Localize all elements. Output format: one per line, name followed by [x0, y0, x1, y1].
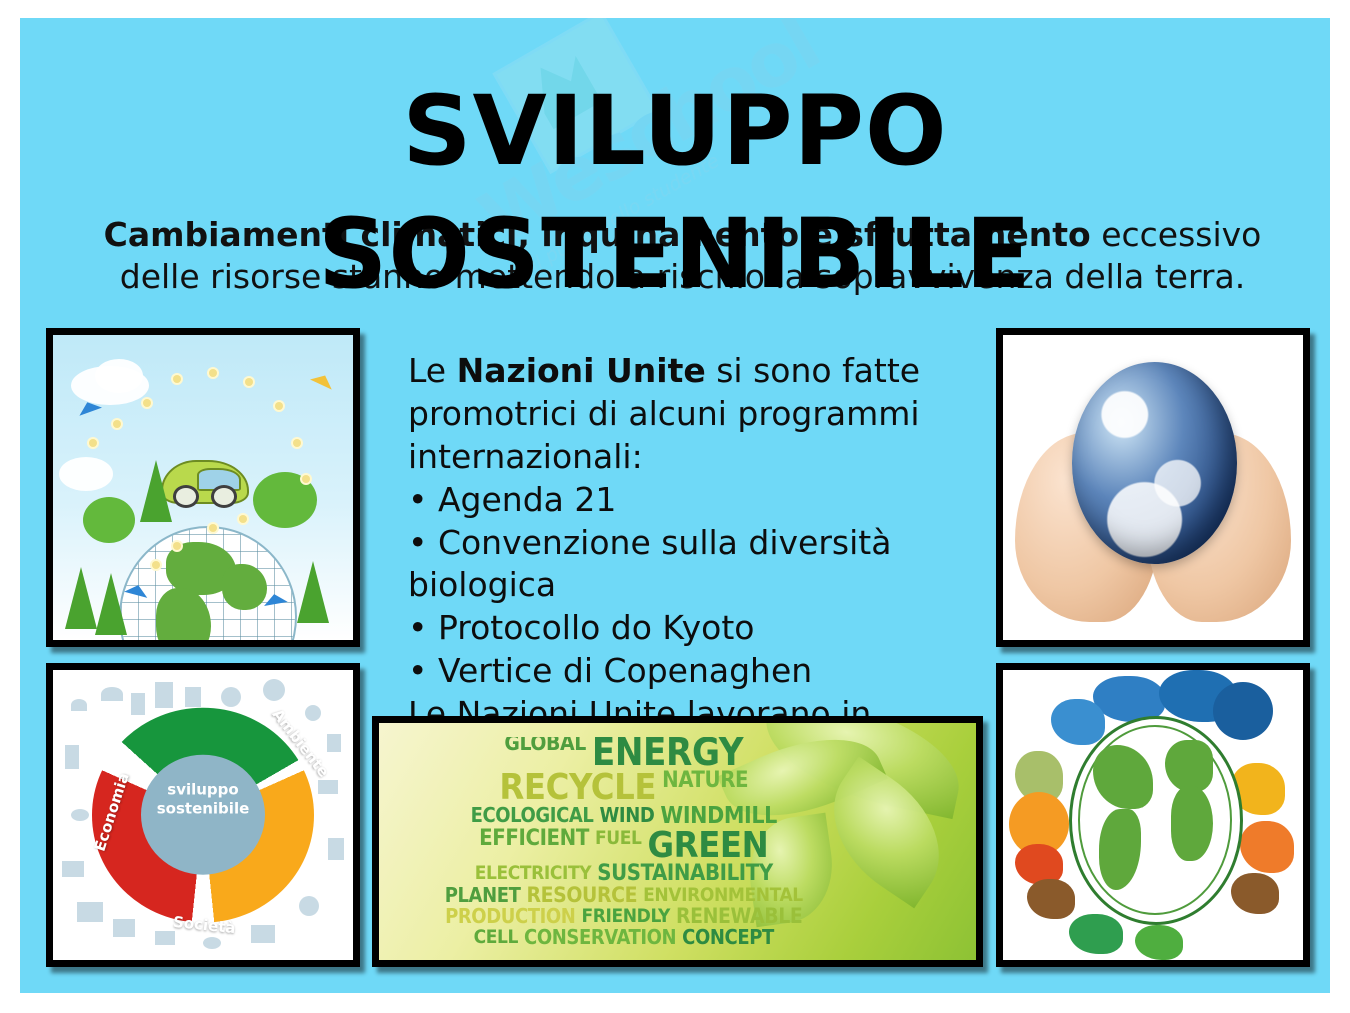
body-text-block: Le Nazioni Unite si sono fatte promotric…	[408, 350, 963, 779]
word-cloud-word: GREEN	[647, 829, 768, 863]
word-cloud-word: ELECTRICITY	[475, 864, 592, 885]
body-intro-prefix: Le	[408, 351, 457, 390]
green-energy-word-cloud: SKYBIOFUELECOTREELEAFELECTRICNATURALFOSS…	[379, 723, 976, 960]
word-cloud-word: ENERGY	[592, 737, 743, 769]
word-cloud-word: EFFICIENT	[479, 829, 589, 863]
hands-holding-earth-photo	[1003, 335, 1303, 640]
hands-earth-image-frame	[996, 328, 1310, 647]
word-cloud-word: WIND	[599, 806, 654, 828]
list-item: • Protocollo do Kyoto	[408, 607, 963, 650]
word-cloud-words: SKYBIOFUELECOTREELEAFELECTRICNATURALFOSS…	[439, 737, 809, 946]
body-intro-bold: Nazioni Unite	[457, 351, 706, 390]
word-cloud-word: RESOURCE	[527, 886, 638, 906]
word-cloud-word: FRIENDLY	[581, 907, 670, 927]
word-cloud-word: RECYCLE	[499, 771, 656, 805]
word-cloud-word: RENEWABLE	[676, 907, 802, 927]
word-cloud-word: ENVIRONMENTAL	[643, 886, 803, 906]
list-item: • Vertice di Copenaghen	[408, 650, 963, 693]
eco-globe-car-image-frame	[46, 328, 360, 647]
slide-canvas: Weschool il punto dello studente Cambiam…	[20, 18, 1330, 993]
list-item: • Agenda 21	[408, 479, 963, 522]
title-line-2: SOSTENIBILE	[20, 193, 1330, 316]
cycle-center-line-2: sostenibile	[92, 799, 314, 818]
word-cloud-word: GLOBAL	[504, 737, 586, 769]
word-cloud-word: CONCEPT	[682, 928, 774, 946]
eco-globe-with-car-illustration	[53, 335, 353, 640]
cycle-ring: sviluppo sostenibile	[92, 708, 314, 923]
word-cloud-word: ECOLOGICAL	[471, 806, 594, 828]
title-line-1: SVILUPPO	[20, 70, 1330, 193]
slide-title: SVILUPPO SOSTENIBILE	[20, 70, 1330, 316]
word-cloud-word: CONSERVATION	[524, 928, 676, 946]
word-cloud-word: PRODUCTION	[445, 907, 575, 927]
sustainability-cycle-image-frame: sviluppo sostenibile Economia Ambiente S…	[46, 663, 360, 967]
word-cloud-image-frame: SKYBIOFUELECOTREELEAFELECTRICNATURALFOSS…	[372, 716, 983, 967]
list-item: • Convenzione sulla diversità biologica	[408, 522, 963, 608]
green-globe-eco-icons	[1003, 670, 1303, 960]
word-cloud-word: FUEL	[595, 829, 642, 863]
word-cloud-word: PLANET	[445, 886, 521, 906]
green-globe-image-frame	[996, 663, 1310, 967]
body-intro: Le Nazioni Unite si sono fatte promotric…	[408, 350, 963, 479]
word-cloud-word: SUSTAINABILITY	[597, 864, 773, 885]
word-cloud-word: NATURE	[662, 771, 748, 805]
sustainability-cycle-diagram: sviluppo sostenibile Economia Ambiente S…	[53, 670, 353, 960]
word-cloud-word: CELL	[474, 928, 518, 946]
